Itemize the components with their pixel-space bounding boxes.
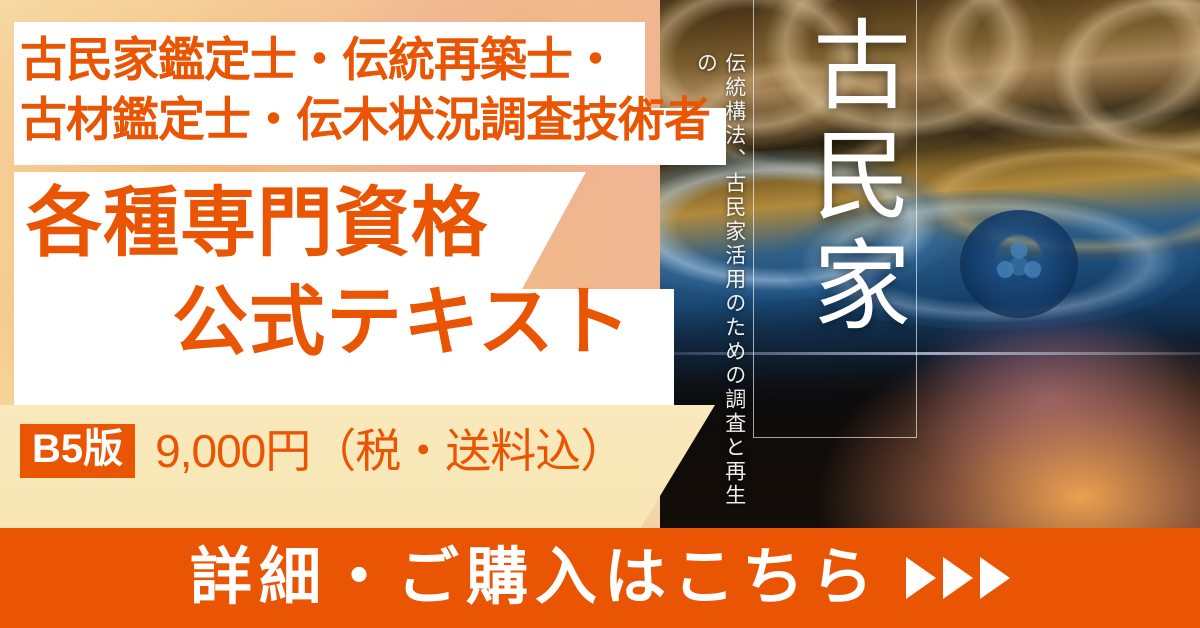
triangle-right-icon — [980, 557, 1010, 599]
price-text: 9,000円（税・送料込） — [155, 428, 625, 474]
cta-arrows — [906, 557, 1010, 599]
qualifications-headline: 古民家鑑定士・伝統再築士・ 古材鑑定士・伝木状況調査技術者 — [20, 30, 720, 150]
product-title-line2: 公式テキスト — [172, 285, 632, 361]
promo-banner: 古民家 伝統構法、古民家活用のための調査と再生の 古民家鑑定士・伝統再築士・ 古… — [0, 0, 1200, 628]
triangle-right-icon — [943, 557, 973, 599]
cta-label: 詳細・ご購入はこちら — [190, 547, 880, 609]
cover-title-text: 古民家 — [756, 14, 911, 344]
cta-button[interactable]: 詳細・ご購入はこちら — [0, 528, 1200, 628]
price-row: B5版 9,000円（税・送料込） — [20, 424, 625, 478]
format-badge: B5版 — [20, 424, 135, 478]
product-title-line1: 各種専門資格 — [26, 186, 488, 262]
family-crest-icon — [960, 210, 1078, 318]
triangle-right-icon — [906, 557, 936, 599]
book-cover-image: 古民家 伝統構法、古民家活用のための調査と再生の — [660, 0, 1200, 540]
